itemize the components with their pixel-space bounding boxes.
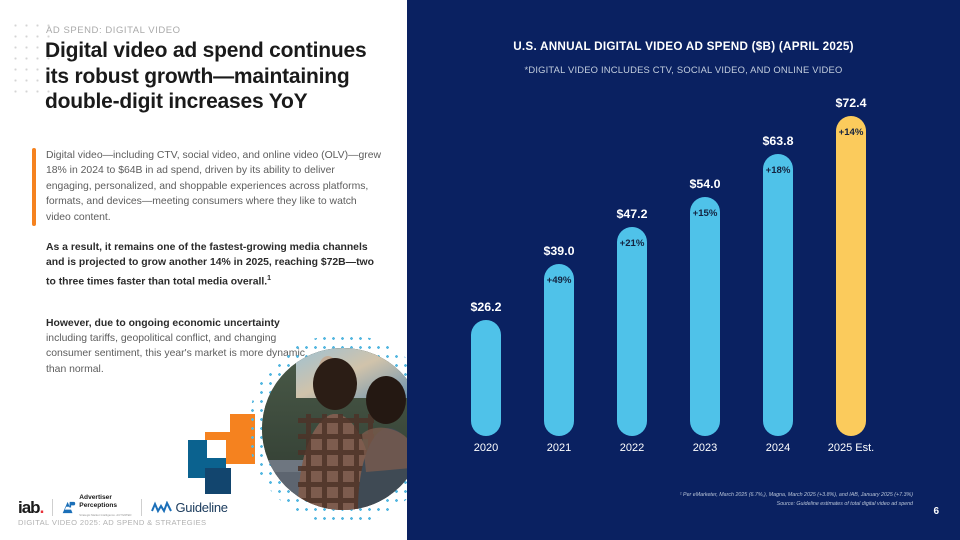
quote-block: Digital video—including CTV, social vide… (32, 148, 382, 225)
bar-value-label: $26.2 (464, 300, 508, 314)
footnote-line-two: Source: Guideline estimates of total dig… (583, 500, 913, 509)
logo-divider-one (52, 499, 53, 516)
bar-value-label: $39.0 (537, 244, 581, 258)
orange-square-notch (205, 414, 230, 432)
paragraph-two-text: As a result, it remains one of the faste… (46, 242, 374, 287)
accent-bar (32, 148, 36, 226)
bar-column: $63.8+18% (756, 96, 800, 436)
chart-title: U.S. ANNUAL DIGITAL VIDEO AD SPEND ($B) … (407, 40, 960, 53)
bar-column: $26.2 (464, 96, 508, 436)
bar-2022 (617, 227, 647, 436)
page-title: Digital video ad spend continues its rob… (45, 38, 385, 115)
bar-column: $72.4+14% (829, 96, 873, 436)
blue-square-notch (207, 440, 226, 458)
bar-growth-label: +21% (610, 238, 654, 249)
bar-value-label: $72.4 (829, 96, 873, 110)
guideline-wave-icon (151, 501, 173, 514)
bar-value-label: $47.2 (610, 207, 654, 221)
x-axis-label-2024: 2024 (748, 442, 808, 454)
x-axis-label-2022: 2022 (602, 442, 662, 454)
bar-growth-label: +15% (683, 208, 727, 219)
bar-growth-label: +18% (756, 165, 800, 176)
bar-2023 (690, 197, 720, 436)
chart-subtitle: *DIGITAL VIDEO INCLUDES CTV, SOCIAL VIDE… (407, 64, 960, 75)
iab-logo-text: iab (18, 498, 40, 517)
footnote-marker: 1 (267, 275, 271, 282)
advertiser-perceptions-mark-icon (62, 501, 76, 514)
x-axis-label-2021: 2021 (529, 442, 589, 454)
chart-footnote: ¹ Per eMarketer, March 2025 (6.7%,), Mag… (583, 491, 913, 509)
x-axis-label-2023: 2023 (675, 442, 735, 454)
bar-growth-label: +14% (829, 127, 873, 138)
paragraph-three-rest: including tariffs, geopolitical conflict… (46, 333, 305, 374)
ap-line-one: Advertiser (79, 494, 131, 502)
footer-caption: DIGITAL VIDEO 2025: AD SPEND & STRATEGIE… (18, 518, 206, 527)
left-content-panel: AD SPEND: DIGITAL VIDEO Digital video ad… (0, 0, 407, 540)
footnote-line-one: ¹ Per eMarketer, March 2025 (6.7%,), Mag… (583, 491, 913, 500)
iab-logo: iab. (18, 499, 43, 516)
chart-plot-area: $26.2$39.0+49%$47.2+21%$54.0+15%$63.8+18… (407, 96, 960, 436)
bar-2025-est- (836, 116, 866, 436)
advertiser-perceptions-logo: Advertiser Perceptions Strategic Market … (62, 494, 131, 521)
paragraph-three-bold: However, due to ongoing economic uncerta… (46, 318, 280, 329)
bar-column: $54.0+15% (683, 96, 727, 436)
bar-2020 (471, 320, 501, 436)
paragraph-two: As a result, it remains one of the faste… (46, 240, 386, 290)
bar-value-label: $63.8 (756, 134, 800, 148)
slide: AD SPEND: DIGITAL VIDEO Digital video ad… (0, 0, 960, 540)
bar-2024 (763, 154, 793, 436)
guideline-logo: Guideline (151, 500, 228, 515)
bar-2021 (544, 264, 574, 436)
x-axis-label-2020: 2020 (456, 442, 516, 454)
footer-logo-row: iab. Advertiser Perceptions Strategic Ma… (18, 494, 228, 521)
logo-divider-two (141, 499, 142, 516)
bar-value-label: $54.0 (683, 177, 727, 191)
bar-growth-label: +49% (537, 275, 581, 286)
navy-square-decoration (205, 468, 231, 494)
guideline-wordmark: Guideline (176, 500, 228, 515)
ap-line-two: Perceptions (79, 502, 131, 510)
chart-panel: U.S. ANNUAL DIGITAL VIDEO AD SPEND ($B) … (407, 0, 960, 540)
advertiser-perceptions-wordmark: Advertiser Perceptions Strategic Market … (79, 494, 131, 521)
bar-column: $47.2+21% (610, 96, 654, 436)
bar-column: $39.0+49% (537, 96, 581, 436)
paragraph-one: Digital video—including CTV, social vide… (46, 148, 382, 225)
x-axis-label-2025-est-: 2025 Est. (821, 442, 881, 454)
iab-logo-dot: . (40, 498, 44, 517)
page-number: 6 (933, 506, 939, 517)
eyebrow-label: AD SPEND: DIGITAL VIDEO (46, 25, 181, 36)
